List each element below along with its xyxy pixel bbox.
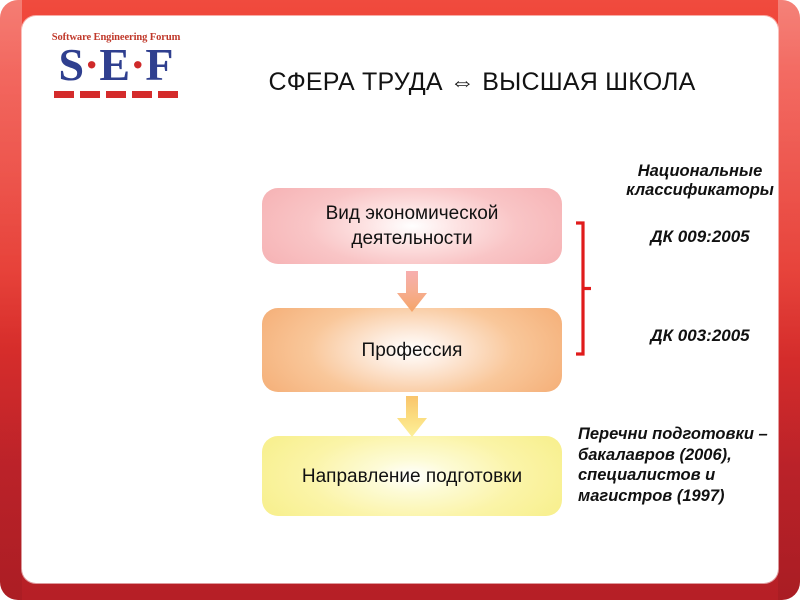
logo-dash [54, 91, 74, 98]
logo-dash [80, 91, 100, 98]
frame-right-highlight [778, 0, 800, 600]
arrow-down-icon [395, 271, 429, 313]
annotation-training-lists: Перечни подготовки – бакалавров (2006), … [578, 424, 800, 506]
annotation-dk-009: ДК 009:2005 [592, 227, 800, 247]
slide-frame: Software Engineering Forum S·E·F СФЕРА Т… [0, 0, 800, 600]
logo-dashes [54, 91, 178, 98]
logo-dash [132, 91, 152, 98]
logo-letter-e: E [99, 39, 130, 90]
frame-left-highlight [0, 0, 22, 600]
logo-dot-1: · [84, 39, 99, 90]
logo-letter-f: F [145, 39, 173, 90]
logo-dot-2: · [130, 39, 145, 90]
logo-letter-s: S [58, 39, 84, 90]
page-title: СФЕРА ТРУДА ⇔ ВЫСШАЯ ШКОЛА [192, 68, 772, 97]
logo-dash [158, 91, 178, 98]
slide-canvas: Software Engineering Forum S·E·F СФЕРА Т… [22, 16, 778, 583]
annotation-dk-003: ДК 003:2005 [592, 326, 800, 346]
annotation-national-classifiers: Национальные классификаторы [592, 162, 800, 200]
flow-box-profession: Профессия [262, 308, 562, 392]
sef-logo: Software Engineering Forum S·E·F [46, 32, 186, 98]
logo-wordmark: S·E·F [46, 42, 186, 88]
flow-box-training-direction: Направление подготовки [262, 436, 562, 516]
flow-box-economic-activity: Вид экономической деятельности [262, 188, 562, 264]
logo-dash [106, 91, 126, 98]
arrow-down-icon [395, 396, 429, 438]
